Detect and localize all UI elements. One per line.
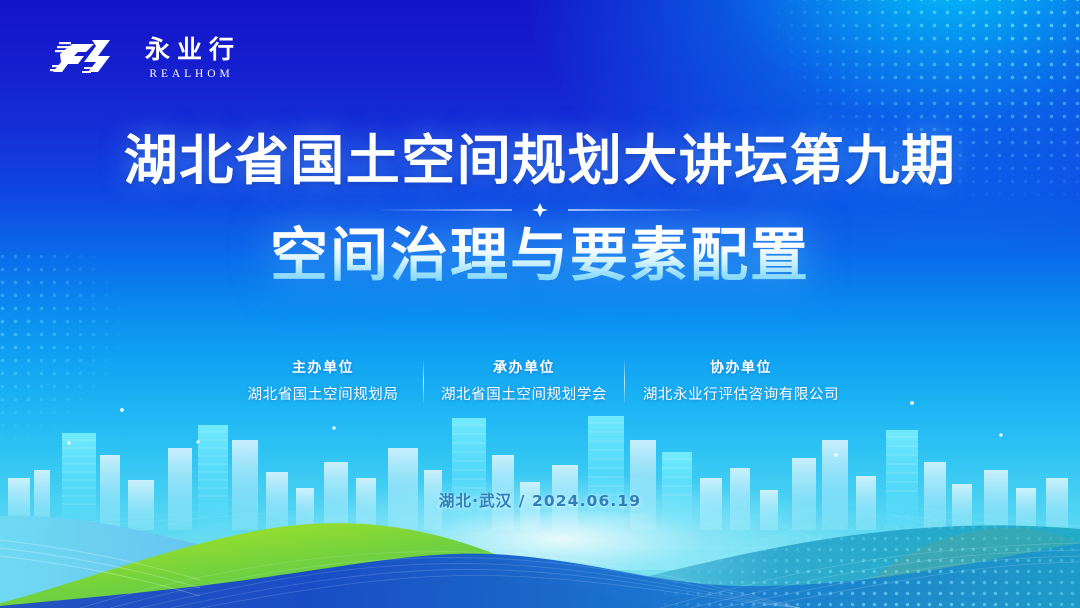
wave-green: [0, 523, 660, 608]
page-title: 湖北省国土空间规划大讲坛第九期: [0, 132, 1080, 190]
title-divider: [380, 202, 700, 218]
location-date: 湖北·武汉 / 2024.06.19: [0, 489, 1080, 511]
page-subtitle: 空间治理与要素配置: [0, 224, 1080, 288]
organizer-coorganizer: 协办单位 湖北永业行评估咨询有限公司: [625, 358, 857, 407]
organizers-row: 主办单位 湖北省国土空间规划局 承办单位 湖北省国土空间规划学会 协办单位 湖北…: [0, 358, 1080, 407]
city-skyline-silhouette: [8, 416, 1068, 540]
wave-teal: [520, 525, 1080, 608]
light-beams: [69, 403, 1001, 540]
conference-poster: 永业行 REALHOM 湖北省国土空间规划大讲坛第九期: [0, 0, 1080, 608]
organizer-name: 湖北省国土空间规划局: [229, 385, 417, 407]
wave-yellow: [840, 528, 1080, 608]
brand-logo[interactable]: 永业行 REALHOM: [48, 34, 241, 82]
title-block: 湖北省国土空间规划大讲坛第九期 空间治理与要素配置: [0, 132, 1080, 288]
organizer-role: 承办单位: [430, 358, 618, 379]
organizer-host: 主办单位 湖北省国土空间规划局: [223, 358, 423, 407]
logo-english-name: REALHOM: [145, 68, 233, 80]
organizer-role: 主办单位: [229, 358, 417, 379]
sparkle-icon: [380, 202, 700, 218]
wave-line-texture: [80, 543, 1080, 608]
organizer-name: 湖北省国土空间规划学会: [430, 385, 618, 407]
organizer-name: 湖北永业行评估咨询有限公司: [631, 385, 851, 407]
logo-chinese-name: 永业行: [138, 37, 241, 62]
logo-wordmark: 永业行 REALHOM: [138, 37, 241, 80]
wave-deep-blue: [0, 542, 1080, 608]
beam-tips: [67, 401, 1002, 457]
organizer-undertaker: 承办单位 湖北省国土空间规划学会: [424, 358, 624, 407]
yh-monogram-icon: [48, 34, 124, 82]
organizer-role: 协办单位: [631, 358, 851, 379]
background-scene: [0, 0, 1080, 608]
bottom-waves: [0, 0, 1080, 608]
wave-pale-blue: [0, 516, 520, 608]
